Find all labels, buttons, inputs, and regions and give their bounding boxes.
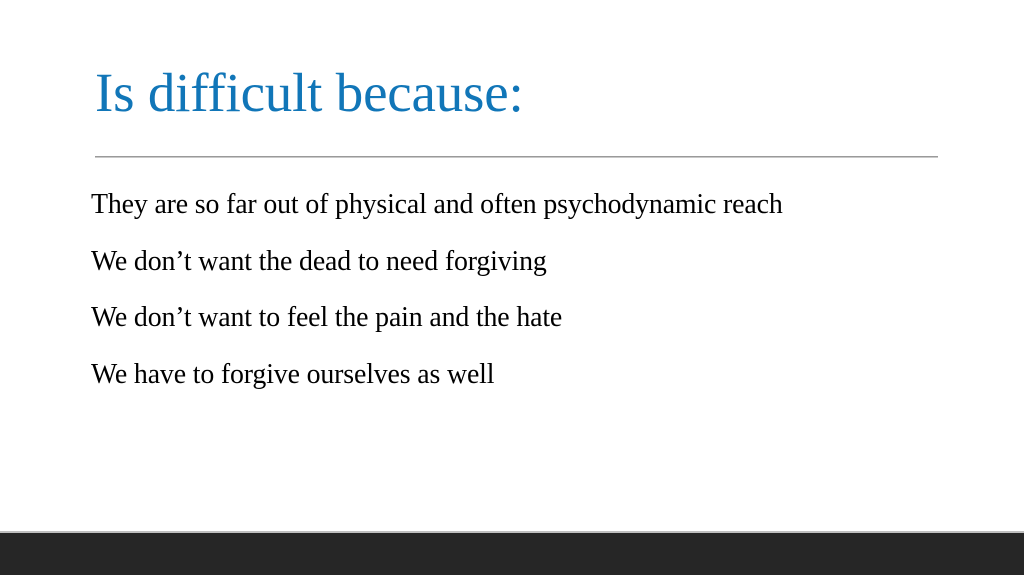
page-title: Is difficult because: — [95, 62, 940, 124]
title-divider — [95, 156, 938, 158]
body-paragraph-3: We don’t want to feel the pain and the h… — [91, 299, 859, 336]
presentation-slide: Is difficult because: They are so far ou… — [0, 0, 1024, 575]
body-paragraph-2: We don’t want the dead to need forgiving — [91, 243, 859, 280]
body-paragraph-1: They are so far out of physical and ofte… — [91, 186, 859, 223]
slide-body-text: They are so far out of physical and ofte… — [91, 186, 891, 392]
footer-bar — [0, 533, 1024, 575]
body-paragraph-4: We have to forgive ourselves as well — [91, 356, 859, 393]
